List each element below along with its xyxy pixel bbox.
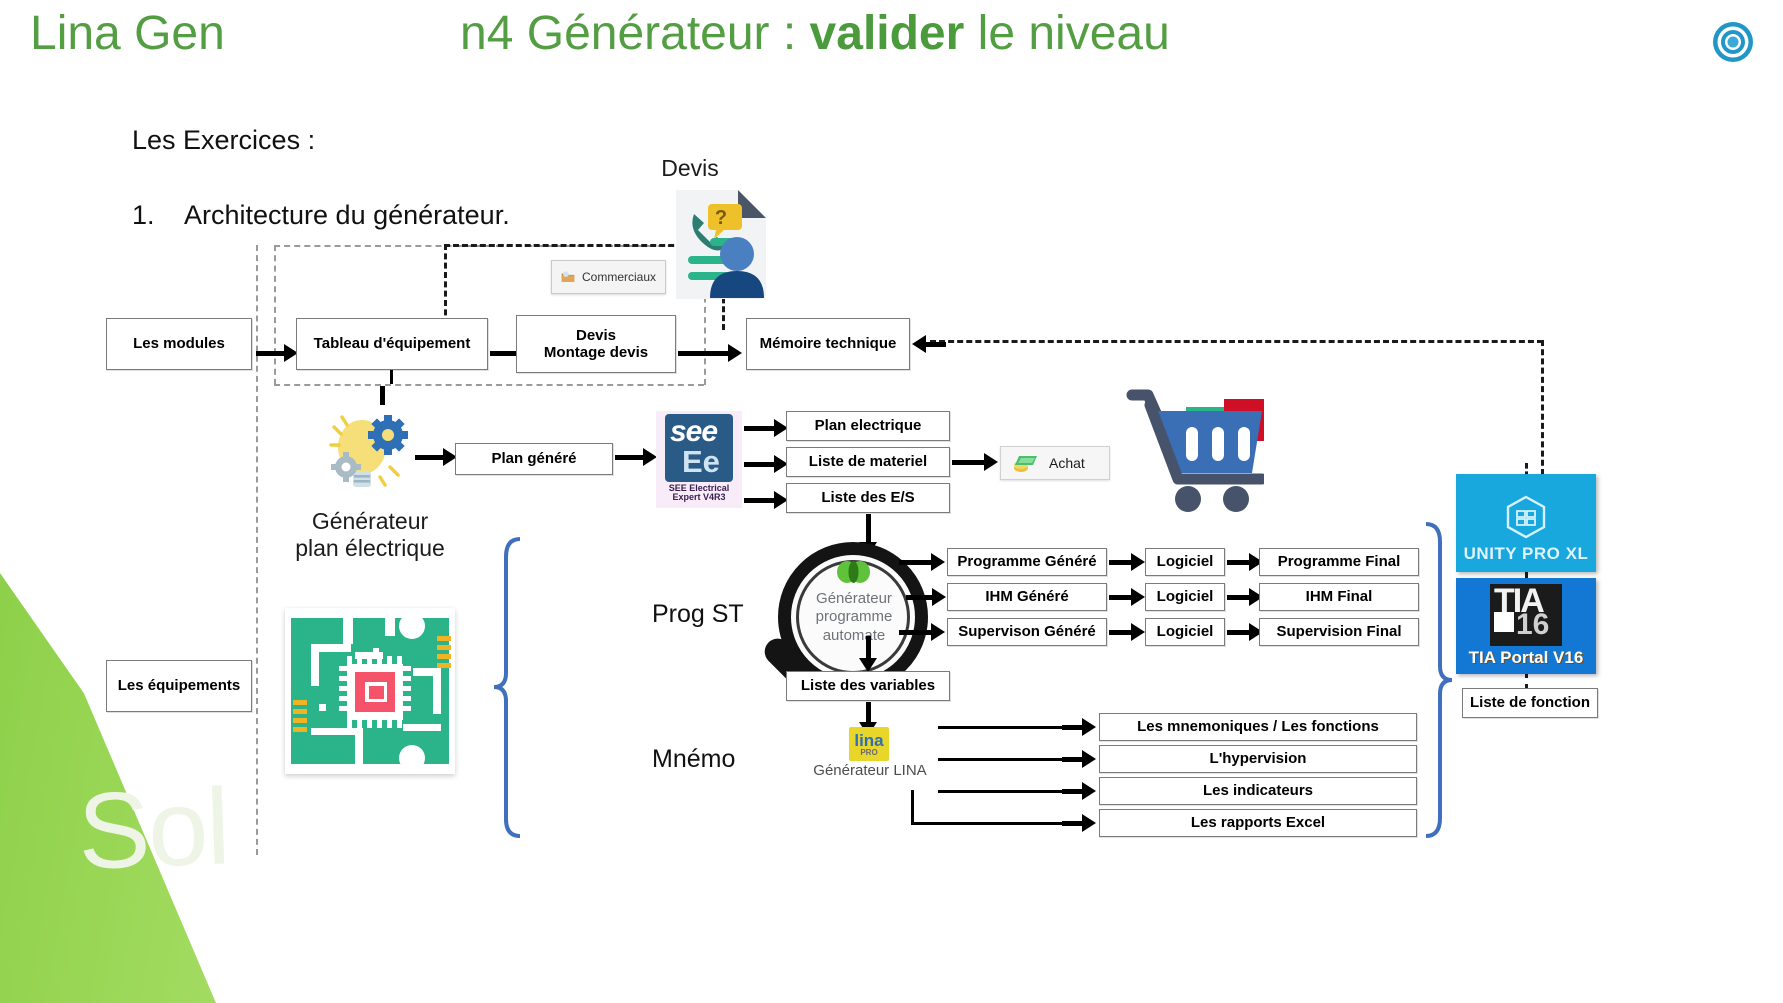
box-ihm-genere[interactable]: IHM Généré [947,583,1107,611]
title-bar: Lina Gen n4 Générateur : valider le nive… [0,0,1783,82]
arrow-logiciel-to-programme-final [1227,553,1263,571]
box-rapports-excel-label: Les rapports Excel [1191,814,1325,831]
box-mnemoniques[interactable]: Les mnemoniques / Les fonctions [1099,713,1417,741]
box-programme-genere-label: Programme Généré [957,553,1096,570]
group-divider-inner [274,245,276,385]
box-logiciel-2[interactable]: Logiciel [1145,583,1225,611]
exercise-list-item: 1.Architecture du générateur. [132,200,510,231]
page-title-suffix: le niveau [964,7,1169,60]
magnifier-caption-line3: automate [798,627,910,645]
magnifier-caption-line2: programme [798,608,910,626]
tableau-down-line [390,370,393,384]
arrow-see-to-plan-electrique [744,419,788,437]
box-logiciel-3[interactable]: Logiciel [1145,618,1225,646]
page-title: n4 Générateur : valider le niveau [460,6,1170,61]
box-liste-es[interactable]: Liste des E/S [786,483,950,513]
lina-bus-3 [938,790,1078,793]
box-programme-genere[interactable]: Programme Généré [947,548,1107,576]
feedback-dash-horizontal [930,340,1543,343]
box-liste-materiel[interactable]: Liste de materiel [786,447,950,477]
lina-bus-4-vertical [911,790,914,824]
lina-pro-icon: lina PRO [849,727,889,761]
arrow-ihm-to-logiciel [1109,588,1145,606]
box-tableau-equipement[interactable]: Tableau d'équipement [296,318,488,370]
lina-bus-1 [938,726,1078,729]
box-supervision-final-label: Supervision Final [1276,623,1401,640]
arrow-lina-to-rapports [1062,814,1096,832]
page-title-prefix: n4 Générateur : [460,7,810,60]
box-logiciel-1[interactable]: Logiciel [1145,548,1225,576]
box-plan-genere[interactable]: Plan généré [455,443,613,475]
generator-caption: Générateur plan électrique [290,508,450,562]
arrow-logiciel-to-ihm-final [1227,588,1263,606]
arrow-programme-to-logiciel [1109,553,1145,571]
group-divider-bottom [274,384,704,386]
feedback-dash-vertical [1541,340,1544,475]
arrow-generator-to-plan [415,448,457,466]
box-supervison-genere-label: Supervison Généré [958,623,1096,640]
box-supervision-final[interactable]: Supervision Final [1259,618,1419,646]
tia-logo-square [1494,612,1514,632]
brand-title: Lina Gen [30,6,225,61]
page-title-emphasis: valider [810,7,965,60]
magnifier-caption-line1: Générateur [798,590,910,608]
box-plan-electrique[interactable]: Plan electrique [786,411,950,441]
arrow-materiel-to-achat [952,453,998,471]
box-hypervision[interactable]: L'hypervision [1099,745,1417,773]
box-ihm-final-label: IHM Final [1306,588,1373,605]
arrow-magnifier-down-to-variables [859,636,877,672]
arrow-logiciel-to-supervision-final [1227,623,1263,641]
box-mnemoniques-label: Les mnemoniques / Les fonctions [1137,718,1379,735]
box-devis-montage[interactable]: Devis Montage devis [516,315,676,373]
arrow-feedback-into-memoire [912,335,946,353]
tia-portal-tile[interactable]: TIA 16 TIA Portal V16 [1456,578,1596,674]
circuit-board-icon [285,608,455,774]
generator-caption-line2: plan électrique [290,535,450,562]
folder-icon [561,267,575,287]
arrow-magnifier-to-supervison [899,623,945,641]
see-logo-bottom-text: Ee [682,444,720,480]
exercise-label: Architecture du générateur. [184,200,510,230]
box-devis-line1: Devis [576,327,616,344]
box-hypervision-label: L'hypervision [1210,750,1307,767]
box-indicateurs[interactable]: Les indicateurs [1099,777,1417,805]
box-tableau-equipement-label: Tableau d'équipement [314,335,471,352]
chip-commerciaux-label: Commerciaux [582,270,656,284]
box-les-modules-label: Les modules [133,335,225,352]
tia-logo-box: TIA 16 [1490,584,1562,646]
lina-logo-sub: PRO [860,749,877,757]
svg-text:?: ? [715,207,727,229]
box-les-equipements-label: Les équipements [118,677,241,694]
devis-caption: Devis [630,155,750,182]
watermark-text: Sol [76,763,230,893]
unity-pro-xl-tile[interactable]: UNITY PRO XL [1456,474,1596,572]
label-prog-st: Prog ST [652,600,744,629]
box-liste-es-label: Liste des E/S [821,489,914,506]
lina-green-logo-icon [834,560,874,584]
magnifier-caption: Générateur programme automate [798,590,910,645]
box-les-equipements[interactable]: Les équipements [106,660,252,712]
see-logo-square: see Ee [665,414,733,482]
exercises-heading: Les Exercices : [132,125,315,156]
generator-caption-line1: Générateur [290,508,450,535]
unity-pro-xl-label: UNITY PRO XL [1464,544,1589,564]
box-memoire-technique[interactable]: Mémoire technique [746,318,910,370]
arrow-see-to-liste-materiel [744,455,788,473]
box-indicateurs-label: Les indicateurs [1203,782,1313,799]
box-logiciel-3-label: Logiciel [1157,623,1214,640]
arrow-modules-to-tableau [256,344,298,362]
right-brace [1420,520,1456,840]
generator-bulb-icon [322,405,414,497]
devis-document-icon: ? [672,188,770,301]
box-ihm-final[interactable]: IHM Final [1259,583,1419,611]
box-devis-line2: Montage devis [544,344,648,361]
arrow-plan-to-see [615,448,657,466]
box-supervison-genere[interactable]: Supervison Généré [947,618,1107,646]
chip-achat[interactable]: Achat [1000,446,1110,480]
arrow-lina-to-indicateurs [1062,782,1096,800]
arrow-lina-to-hypervision [1062,750,1096,768]
arrow-devis-to-memoire [678,344,742,362]
lina-logo-text: lina [854,732,883,749]
box-plan-electrique-label: Plan electrique [815,417,922,434]
box-memoire-technique-label: Mémoire technique [760,335,897,352]
see-logo-caption-line2: Expert V4R3 [669,493,730,502]
box-liste-materiel-label: Liste de materiel [809,453,927,470]
label-mnemo: Mnémo [652,745,735,774]
chip-achat-label: Achat [1049,455,1085,471]
arrow-magnifier-to-programme [899,553,945,571]
tia-logo-version: 16 [1516,608,1549,642]
lina-caption: Générateur LINA [790,762,950,779]
box-programme-final-label: Programme Final [1278,553,1401,570]
box-plan-genere-label: Plan généré [491,450,576,467]
unity-cube-icon [1503,494,1549,540]
box-ihm-genere-label: IHM Généré [985,588,1068,605]
arrow-supervison-to-logiciel [1109,623,1145,641]
arrow-lina-to-mnemoniques [1062,718,1096,736]
box-liste-variables[interactable]: Liste des variables [786,671,950,701]
group-divider-left [256,245,258,855]
bullseye-icon [1711,20,1755,64]
chip-commerciaux[interactable]: Commerciaux [551,260,666,294]
box-liste-fonction[interactable]: Liste de fonction [1462,688,1598,718]
arrow-magnifier-to-ihm [906,588,946,606]
see-electrical-logo: see Ee SEE Electrical Expert V4R3 [656,411,742,508]
arrow-see-to-liste-es [744,491,788,509]
box-rapports-excel[interactable]: Les rapports Excel [1099,809,1417,837]
lina-bus-4 [911,822,1078,825]
left-brace [490,535,526,840]
box-logiciel-1-label: Logiciel [1157,553,1214,570]
shopping-cart-icon [1124,385,1264,525]
tia-portal-label: TIA Portal V16 [1469,648,1584,668]
box-logiciel-2-label: Logiciel [1157,588,1214,605]
box-liste-variables-label: Liste des variables [801,677,935,694]
lina-bus-2 [938,758,1078,761]
see-logo-caption: SEE Electrical Expert V4R3 [669,484,730,503]
box-liste-fonction-label: Liste de fonction [1470,694,1590,711]
money-icon [1013,453,1039,473]
exercise-number: 1. [132,200,184,231]
box-les-modules[interactable]: Les modules [106,318,252,370]
box-programme-final[interactable]: Programme Final [1259,548,1419,576]
